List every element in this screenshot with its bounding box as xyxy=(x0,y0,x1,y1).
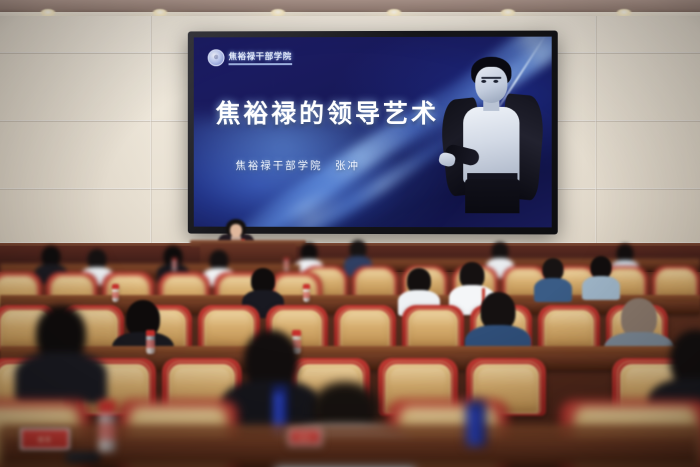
smartphone[interactable] xyxy=(66,452,100,462)
audience-member xyxy=(536,258,570,300)
water-bottle[interactable] xyxy=(303,284,310,302)
name-placard[interactable]: 姓名 xyxy=(20,428,70,450)
bottle-label xyxy=(146,340,155,348)
bottle-cap xyxy=(112,284,119,289)
shoulders xyxy=(534,278,572,302)
slide-subtitle: 焦裕禄干部学院 张冲 xyxy=(235,158,360,173)
water-bottle[interactable] xyxy=(98,400,116,452)
name-placard[interactable]: 姓名 xyxy=(288,428,322,446)
portrait-face xyxy=(475,67,507,103)
portrait-shirt xyxy=(463,107,519,183)
bottle-cap xyxy=(303,284,310,289)
bottle-cap xyxy=(98,400,116,414)
bottle-cap xyxy=(146,330,155,336)
bottle-label xyxy=(172,263,177,267)
screen-display-area: ◎ 焦裕禄干部学院 焦裕禄的领导艺术 焦裕禄干部学院 张冲 xyxy=(194,37,552,228)
water-bottle[interactable] xyxy=(146,330,155,354)
seat-trim xyxy=(406,308,461,349)
lecture-hall-photograph: ◎ 焦裕禄干部学院 焦裕禄的领导艺术 焦裕禄干部学院 张冲 xyxy=(0,0,700,467)
seat[interactable] xyxy=(538,305,600,351)
bottle-label xyxy=(98,422,116,440)
portrait-brow xyxy=(481,77,501,79)
audience-member xyxy=(22,306,100,396)
thermos-bottle[interactable] xyxy=(466,400,486,446)
presenter-face xyxy=(230,224,242,237)
wall-shadow-left xyxy=(0,16,150,278)
audience-member xyxy=(584,256,618,298)
shoulders xyxy=(15,352,107,404)
slide-institution-logo: ◎ 焦裕禄干部学院 xyxy=(208,49,292,66)
seat[interactable] xyxy=(402,305,464,351)
portrait-trousers xyxy=(465,179,519,213)
slide-logo-text: 焦裕禄干部学院 xyxy=(229,50,292,65)
seat[interactable] xyxy=(334,305,396,351)
name-placard-text: 姓名 xyxy=(298,433,312,442)
shoulders xyxy=(582,276,620,300)
thermos-lid xyxy=(272,384,288,393)
thermos-lid xyxy=(466,400,486,407)
desk-top xyxy=(0,346,700,354)
seat-trim xyxy=(542,308,597,349)
name-placard-text: 姓名 xyxy=(38,435,52,444)
bottle-cap xyxy=(172,258,177,261)
emblem-icon: ◎ xyxy=(208,49,225,66)
bottle-label xyxy=(112,292,119,298)
portrait-eye xyxy=(493,80,498,83)
bottle-label xyxy=(284,263,289,267)
slide-portrait-figure xyxy=(425,55,546,216)
bottle-cap xyxy=(284,258,289,261)
portrait-eye xyxy=(481,80,486,83)
seat-trim xyxy=(338,308,393,349)
wall-panel-seam xyxy=(150,16,152,278)
water-bottle[interactable] xyxy=(284,258,289,271)
bottle-label xyxy=(303,292,310,298)
water-bottle[interactable] xyxy=(172,258,177,271)
presentation-screen[interactable]: ◎ 焦裕禄干部学院 焦裕禄的领导艺术 焦裕禄干部学院 张冲 xyxy=(188,31,558,235)
